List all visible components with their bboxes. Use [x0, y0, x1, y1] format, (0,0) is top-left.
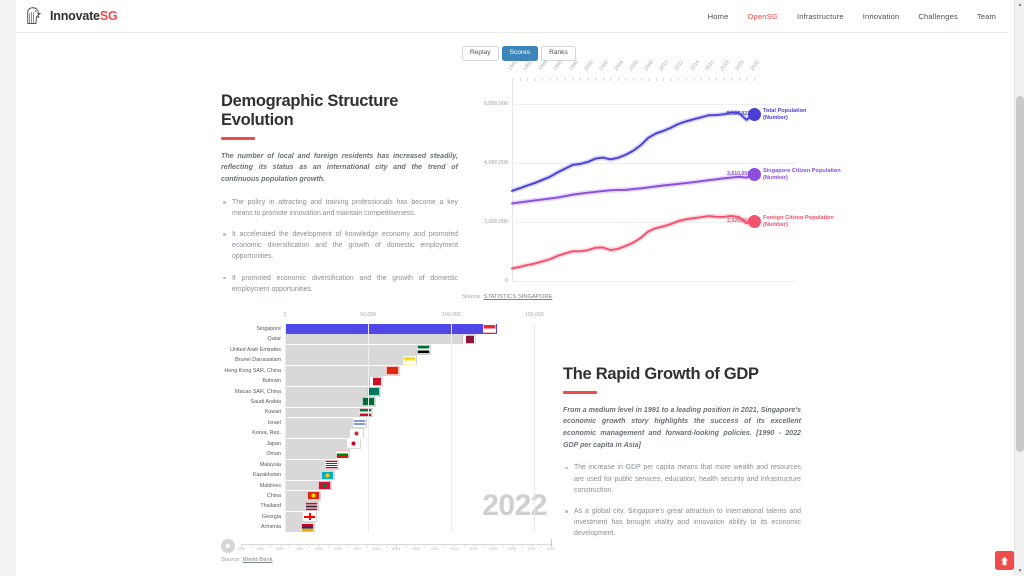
bar-row-track	[285, 345, 551, 355]
line-series-end-marker	[748, 215, 761, 228]
timeline-year-label: 2016	[489, 547, 497, 551]
scrollbar-thumb[interactable]	[1016, 96, 1024, 452]
bar-chart-x-tick-label: 0	[284, 312, 287, 318]
bar-row-country-label: Korea, Rep.	[221, 430, 285, 436]
timeline-year-label: 1994	[276, 547, 284, 551]
scores-button[interactable]: Scores	[502, 46, 539, 61]
gdp-lede: From a medium level in 1991 to a leading…	[563, 405, 801, 452]
bar-row-track	[285, 376, 551, 386]
timeline-tick	[251, 544, 252, 547]
timeline-year-label: 2022	[547, 547, 555, 551]
nav-item-home[interactable]: Home	[708, 12, 729, 21]
country-flag-icon	[301, 523, 314, 532]
timeline-tick	[309, 544, 310, 547]
country-flag-icon	[369, 377, 382, 386]
country-flag-icon	[386, 366, 399, 375]
brand-logo[interactable]: InnovateSG	[24, 6, 117, 26]
country-flag-icon	[321, 471, 334, 480]
bar-chart-x-tick-label: 150,000	[525, 312, 544, 318]
brand-name: Innovate	[50, 9, 100, 23]
country-flag-icon	[483, 324, 496, 333]
bar-row-country-label: Hong Kong SAR, China	[221, 368, 285, 374]
bar-chart-row[interactable]: Kuwait	[221, 408, 551, 418]
bar-chart-vertical-gridline	[451, 324, 452, 533]
bar-row-track	[285, 449, 551, 459]
replay-button[interactable]: Replay	[462, 46, 499, 61]
bar-row-country-label: Qatar	[221, 336, 285, 342]
bar-row-country-label: Oman	[221, 451, 285, 457]
timeline-tick	[386, 544, 387, 547]
bar-row-fill	[285, 345, 431, 355]
bar-chart-row[interactable]: Qatar	[221, 334, 551, 344]
bar-chart-row[interactable]: Malaysia	[221, 460, 551, 470]
country-flag-icon	[347, 439, 360, 448]
bar-chart-rows: SingaporeQatarUnited Arab EmiratesBrunei…	[221, 324, 551, 533]
bar-chart-row[interactable]: Oman	[221, 449, 551, 459]
timeline-year-label: 1990	[237, 547, 245, 551]
population-line-chart[interactable]: 02,000,0004,000,0006,000,000 19901992199…	[462, 66, 800, 291]
timeline-tick	[406, 544, 407, 547]
bar-row-country-label: Israel	[221, 420, 285, 426]
bar-row-country-label: Bahrain	[221, 378, 285, 384]
source-link-world-bank[interactable]: World Bank	[243, 557, 273, 563]
country-flag-icon	[305, 502, 318, 511]
line-series-legend-label: Singapore Citizen Population(Number)	[763, 168, 841, 182]
country-flag-icon	[462, 335, 475, 344]
source-link-statistics-singapore[interactable]: STATISTICS SINGAPORE	[484, 294, 553, 300]
gdp-section: The Rapid Growth of GDP From a medium le…	[563, 365, 801, 549]
country-flag-icon	[359, 408, 372, 417]
country-flag-icon	[325, 460, 338, 469]
country-flag-icon	[336, 450, 349, 459]
scroll-to-top-button[interactable]	[995, 551, 1014, 570]
bar-row-track	[285, 418, 551, 428]
timeline-year-label: 2010	[431, 547, 439, 551]
bar-row-country-label: Kuwait	[221, 409, 285, 415]
bar-chart-row[interactable]: Saudi Arabia	[221, 397, 551, 407]
bar-chart-year-stamp: 2022	[482, 489, 547, 523]
timeline-year-label: 2002	[353, 547, 361, 551]
timeline-year-label: 1998	[315, 547, 323, 551]
bar-row-country-label: Japan	[221, 441, 285, 447]
timeline-tick	[483, 544, 484, 547]
timeline-year-label: 2020	[528, 547, 536, 551]
timeline-tick	[464, 544, 465, 547]
bar-chart-vertical-gridline	[285, 324, 286, 533]
line-series-value-label: 3,610,658	[727, 171, 750, 177]
timeline-year-label: 2012	[450, 547, 458, 551]
country-flag-icon	[318, 481, 331, 490]
bar-chart-row[interactable]: Brunei Darussalam	[221, 355, 551, 365]
bar-row-country-label: Armenia	[221, 524, 285, 530]
country-flag-icon	[403, 356, 416, 365]
bar-chart-row[interactable]: Bahrain	[221, 376, 551, 386]
gdp-source: Source: World Bank	[221, 557, 551, 563]
timeline-year-label: 2006	[392, 547, 400, 551]
bar-row-track	[285, 366, 551, 376]
source-prefix: Source:	[221, 557, 241, 563]
scrollbar-down-arrow[interactable]: ▼	[1015, 566, 1024, 576]
demographic-section: Demographic Structure Evolution The numb…	[221, 92, 458, 305]
timeline-year-label: 1992	[256, 547, 264, 551]
gdp-bullets: The increase in GDP per capita means tha…	[563, 462, 801, 539]
bar-chart-row[interactable]: Israel	[221, 418, 551, 428]
bar-row-country-label: Saudi Arabia	[221, 399, 285, 405]
timeline-tick	[522, 544, 523, 547]
population-chart-panel: Replay Scores Ranks 02,000,0004,000,0006…	[462, 46, 800, 300]
line-series-legend-label: Total Population(Number)	[763, 108, 806, 122]
bar-row-fill	[285, 324, 497, 334]
timeline-tick	[289, 544, 290, 547]
demographic-lede: The number of local and foreign resident…	[221, 151, 458, 186]
page-scrollbar[interactable]: ▲ ▼	[1014, 0, 1024, 576]
nav-item-opensg[interactable]: OpenSG	[747, 12, 777, 21]
bar-row-fill	[285, 366, 400, 376]
source-prefix: Source:	[462, 294, 482, 300]
timeline-year-label: 2008	[411, 547, 419, 551]
demographic-bullet: It promoted economic diversification and…	[221, 273, 458, 295]
arrow-up-icon	[1000, 556, 1009, 566]
bar-row-country-label: China	[221, 493, 285, 499]
timeline-tick	[348, 544, 349, 547]
nav-item-innovation[interactable]: Innovation	[863, 12, 900, 21]
play-button[interactable]	[221, 539, 235, 553]
bar-row-track	[285, 428, 551, 438]
nav-item-challenges[interactable]: Challenges	[918, 12, 958, 21]
timeline-tick	[541, 544, 542, 547]
timeline-slider[interactable]: 1990199219941996199820002002200420062008…	[241, 539, 551, 553]
bar-row-country-label: Macao SAR, China	[221, 389, 285, 395]
main-nav: Home OpenSG Infrastructure Innovation Ch…	[708, 12, 996, 21]
country-flag-icon	[307, 491, 320, 500]
timeline-year-label: 2000	[334, 547, 342, 551]
bar-row-country-label: Kazakhstan	[221, 472, 285, 478]
chart-toolbar: Replay Scores Ranks	[462, 46, 800, 61]
gdp-bullet: The increase in GDP per capita means tha…	[563, 462, 801, 496]
bar-chart-vertical-gridline	[534, 324, 535, 533]
country-flag-icon	[417, 345, 430, 354]
timeline-year-label: 2004	[373, 547, 381, 551]
country-flag-icon	[350, 429, 363, 438]
bar-chart-controls: 1990199219941996199820002002200420062008…	[221, 539, 551, 553]
merlion-icon	[24, 6, 44, 26]
bar-chart-row[interactable]: Singapore	[221, 324, 551, 334]
brand-suffix: SG	[100, 9, 118, 23]
bar-row-country-label: United Arab Emirates	[221, 347, 285, 353]
bar-row-country-label: Maldives	[221, 483, 285, 489]
demographic-title: Demographic Structure Evolution	[221, 92, 458, 130]
bar-row-track	[285, 397, 551, 407]
bar-row-track	[285, 470, 551, 480]
page-left-gutter	[0, 0, 16, 576]
bar-row-track	[285, 460, 551, 470]
gdp-bullet: As a global city, Singapore's great attr…	[563, 506, 801, 540]
line-series-legend-label: Foreign Citizen Population(Number)	[763, 215, 834, 229]
scrollbar-up-arrow[interactable]: ▲	[1015, 0, 1024, 10]
site-header: InnovateSG Home OpenSG Infrastructure In…	[16, 0, 1008, 33]
bar-row-country-label: Brunei Darussalam	[221, 357, 285, 363]
bar-chart-row[interactable]: Hong Kong SAR, China	[221, 366, 551, 376]
gdp-title: The Rapid Growth of GDP	[563, 365, 801, 384]
timeline-year-label: 2014	[470, 547, 478, 551]
bar-row-fill	[285, 355, 417, 365]
line-series-value-label: 5,637,022	[727, 111, 750, 117]
bar-row-country-label: Thailand	[221, 503, 285, 509]
bar-row-country-label: Singapore	[221, 326, 285, 332]
demographic-bullet: It accelerated the development of knowle…	[221, 229, 458, 263]
line-series-path	[512, 216, 754, 269]
bar-row-track	[285, 334, 551, 344]
bar-row-track	[285, 355, 551, 365]
line-series-end-marker	[748, 168, 761, 181]
country-flag-icon	[303, 512, 316, 521]
bar-row-track	[285, 387, 551, 397]
line-series-end-marker	[748, 108, 761, 121]
timeline-tick	[270, 544, 271, 547]
nav-item-infrastructure[interactable]: Infrastructure	[797, 12, 844, 21]
bar-row-track	[285, 522, 551, 532]
timeline-year-label: 2018	[508, 547, 516, 551]
country-flag-icon	[353, 418, 366, 427]
page-root: InnovateSG Home OpenSG Infrastructure In…	[0, 0, 1024, 576]
bar-row-country-label: Georgia	[221, 514, 285, 520]
bar-chart-x-tick-label: 100,000	[442, 312, 461, 318]
nav-item-team[interactable]: Team	[977, 12, 996, 21]
timeline-tick	[503, 544, 504, 547]
population-source: Source: STATISTICS SINGAPORE	[462, 294, 800, 300]
bar-chart-vertical-gridline	[368, 324, 369, 533]
gdp-bar-race-panel: 050,000100,000150,000 SingaporeQatarUnit…	[221, 312, 551, 563]
timeline-tick	[367, 544, 368, 547]
timeline-year-label: 1996	[295, 547, 303, 551]
bar-chart-row[interactable]: Macao SAR, China	[221, 387, 551, 397]
bar-row-country-label: Malaysia	[221, 462, 285, 468]
demographic-bullet: The policy in attracting and training pr…	[221, 197, 458, 219]
bar-chart-row[interactable]: Kazakhstan	[221, 470, 551, 480]
demographic-title-rule	[221, 137, 255, 140]
timeline-tick	[425, 544, 426, 547]
bar-row-track	[285, 324, 551, 334]
brand-text: InnovateSG	[50, 9, 117, 23]
bar-row-track	[285, 408, 551, 418]
bar-row-fill	[285, 334, 476, 344]
gdp-title-rule	[563, 391, 597, 394]
timeline-tick	[328, 544, 329, 547]
bar-chart-row[interactable]: Japan	[221, 439, 551, 449]
timeline-tick	[444, 544, 445, 547]
line-series-value-label: 2,026,364	[727, 218, 750, 224]
bar-chart-row[interactable]: United Arab Emirates	[221, 345, 551, 355]
timeline-handle[interactable]	[551, 539, 553, 547]
bar-chart-row[interactable]: Armenia	[221, 522, 551, 532]
bar-chart-x-tick-label: 50,000	[360, 312, 376, 318]
demographic-bullets: The policy in attracting and training pr…	[221, 197, 458, 295]
bar-chart-row[interactable]: Korea, Rep.	[221, 428, 551, 438]
bar-row-track	[285, 439, 551, 449]
bar-chart-x-axis: 050,000100,000150,000	[221, 312, 551, 324]
play-icon	[226, 543, 231, 549]
